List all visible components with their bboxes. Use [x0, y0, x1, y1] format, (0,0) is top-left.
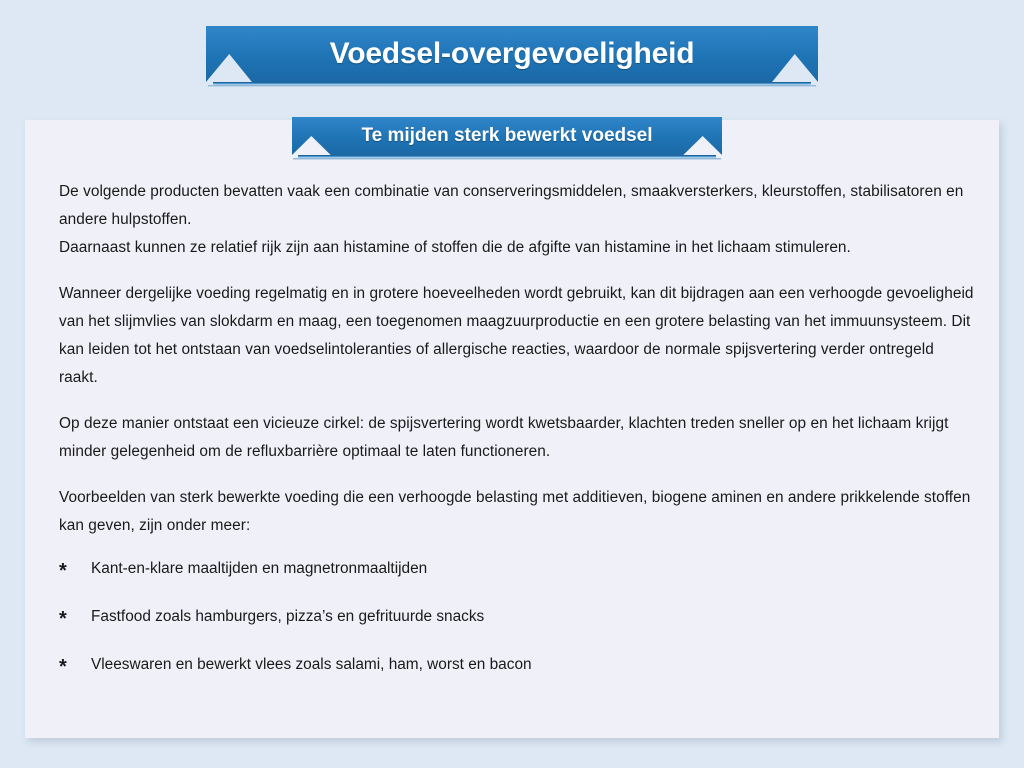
subtitle-text: Te mijden sterk bewerkt voedsel	[361, 125, 652, 147]
page-title: Voedsel-overgevoeligheid	[330, 37, 695, 71]
subtitle-banner-shape: Te mijden sterk bewerkt voedsel	[292, 117, 722, 155]
list-item-label: Fastfood zoals hamburgers, pizza’s en ge…	[91, 606, 484, 628]
asterisk-icon: *	[59, 558, 91, 582]
body-content: De volgende producten bevatten vaak een …	[59, 178, 975, 702]
subtitle-banner-underline-shadow	[293, 158, 721, 160]
paragraph-5: Voorbeelden van sterk bewerkte voeding d…	[59, 484, 975, 540]
asterisk-icon: *	[59, 654, 91, 678]
paragraph-1: De volgende producten bevatten vaak een …	[59, 178, 975, 234]
subtitle-banner: Te mijden sterk bewerkt voedsel	[292, 117, 722, 163]
title-banner: Voedsel-overgevoeligheid	[206, 26, 818, 96]
list-item: * Fastfood zoals hamburgers, pizza’s en …	[59, 606, 975, 630]
asterisk-icon: *	[59, 606, 91, 630]
paragraph-2: Daarnaast kunnen ze relatief rijk zijn a…	[59, 234, 975, 262]
list-item: * Vleeswaren en bewerkt vlees zoals sala…	[59, 654, 975, 678]
title-banner-shape: Voedsel-overgevoeligheid	[206, 26, 818, 82]
paragraph-3: Wanneer dergelijke voeding regelmatig en…	[59, 280, 975, 392]
list-item-label: Kant-en-klare maaltijden en magnetronmaa…	[91, 558, 427, 580]
title-banner-underline-shadow	[208, 85, 816, 87]
list-item: * Kant-en-klare maaltijden en magnetronm…	[59, 558, 975, 582]
paragraph-4: Op deze manier ontstaat een vicieuze cir…	[59, 410, 975, 466]
examples-list: * Kant-en-klare maaltijden en magnetronm…	[59, 558, 975, 678]
list-item-label: Vleeswaren en bewerkt vlees zoals salami…	[91, 654, 532, 676]
